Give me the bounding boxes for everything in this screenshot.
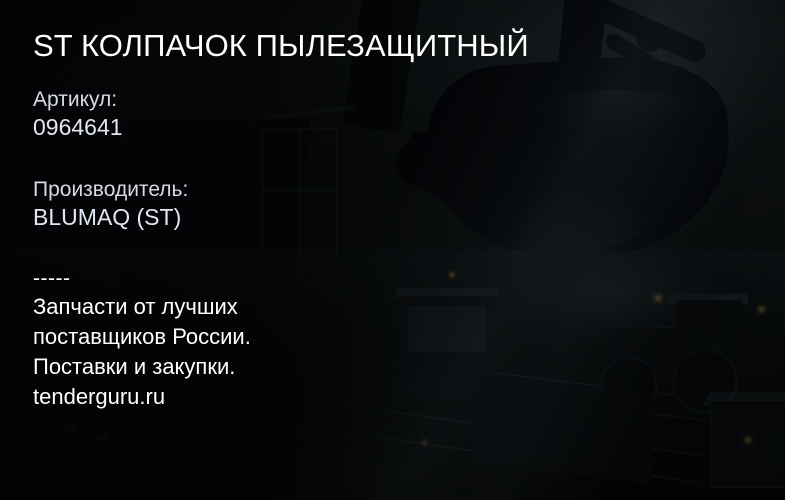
manufacturer-field: Производитель: BLUMAQ (ST) xyxy=(33,176,188,232)
product-title: ST КОЛПАЧОК ПЫЛЕЗАЩИТНЫЙ xyxy=(33,28,529,64)
article-value: 0964641 xyxy=(33,113,123,142)
tagline-block: ----- Запчасти от лучших поставщиков Рос… xyxy=(33,268,251,412)
article-label: Артикул: xyxy=(33,86,123,113)
tagline-line-1: Запчасти от лучших xyxy=(33,292,251,322)
machine-light-glow xyxy=(742,434,754,446)
crate-top-silhouette xyxy=(702,392,785,406)
tagline-line-3: Поставки и закупки. xyxy=(33,352,251,382)
tagline-separator: ----- xyxy=(33,268,251,292)
machine-light-glow xyxy=(756,304,767,315)
tractor-roof-silhouette xyxy=(668,294,748,304)
manufacturer-value: BLUMAQ (ST) xyxy=(33,203,188,232)
tagline-line-2: поставщиков России. xyxy=(33,322,251,352)
tractor-wheel-silhouette xyxy=(672,348,738,414)
tagline-website: tenderguru.ru xyxy=(33,382,251,412)
crate-silhouette xyxy=(710,400,785,488)
manufacturer-label: Производитель: xyxy=(33,176,188,203)
tractor-cab-silhouette xyxy=(676,300,742,358)
machine-light-glow xyxy=(652,292,664,304)
excavator-pivot-silhouette xyxy=(664,66,688,90)
product-banner: ST КОЛПАЧОК ПЫЛЕЗАЩИТНЫЙ Артикул: 096464… xyxy=(0,0,785,500)
article-field: Артикул: 0964641 xyxy=(33,86,123,142)
banner-content: ST КОЛПАЧОК ПЫЛЕЗАЩИТНЫЙ Артикул: 096464… xyxy=(33,0,653,500)
